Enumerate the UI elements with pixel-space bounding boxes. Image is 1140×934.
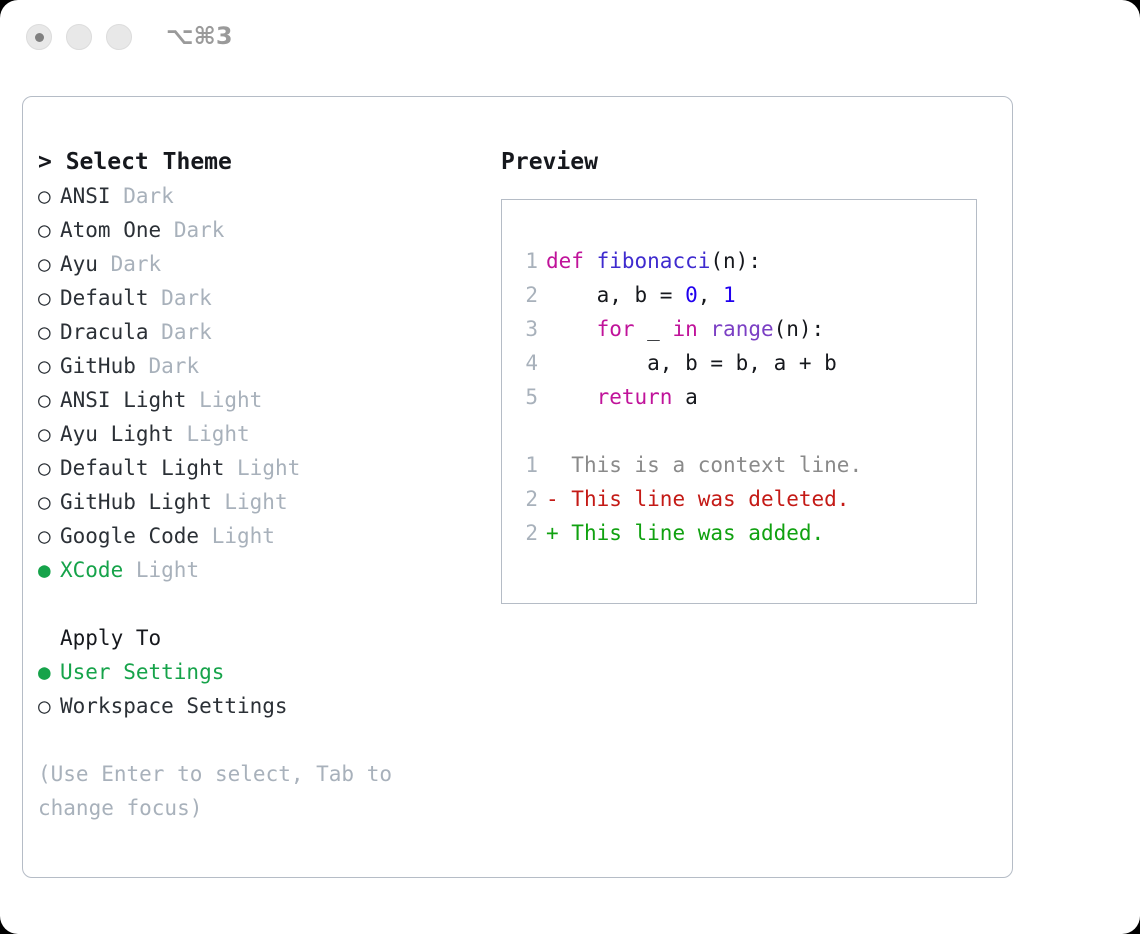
radio-unselected-icon: ○ (38, 383, 60, 417)
title-bar: ⌥⌘3 (0, 0, 1140, 78)
code-token: fibonacci (597, 249, 711, 273)
theme-option-google-code[interactable]: ○Google Code Light (38, 519, 488, 553)
code-token (546, 385, 597, 409)
theme-option-atom-one[interactable]: ○Atom One Dark (38, 213, 488, 247)
code-line-number: 3 (516, 312, 538, 346)
theme-option-spacer (111, 184, 124, 208)
theme-option-label: XCode (60, 558, 123, 582)
code-token: , (698, 283, 723, 307)
theme-option-default[interactable]: ○Default Dark (38, 281, 488, 315)
theme-variant-tag: Dark (111, 252, 162, 276)
app-window: ⌥⌘3 > Select Theme ○ANSI Dark○Atom One D… (0, 0, 1140, 934)
radio-unselected-icon: ○ (38, 213, 60, 247)
code-token: _ (635, 317, 673, 341)
code-token: 1 (723, 283, 736, 307)
diff-sample: 1 This is a context line.2- This line wa… (516, 448, 976, 550)
diff-text: This is a context line. (571, 453, 862, 477)
code-line: 2 a, b = 0, 1 (516, 278, 976, 312)
code-line: 3 for _ in range(n): (516, 312, 976, 346)
code-token: return (597, 385, 673, 409)
preview-title: Preview (501, 145, 1001, 179)
theme-option-label: Ayu (60, 252, 98, 276)
theme-option-label: ANSI (60, 184, 111, 208)
diff-line-number: 2 (516, 516, 538, 550)
code-token: range (710, 317, 773, 341)
theme-option-label: Default Light (60, 456, 224, 480)
code-token: a (672, 385, 697, 409)
theme-option-default-light[interactable]: ○Default Light Light (38, 451, 488, 485)
window-dot-active-inner (35, 33, 44, 42)
theme-variant-tag: Dark (149, 354, 200, 378)
theme-option-ayu[interactable]: ○Ayu Dark (38, 247, 488, 281)
diff-line: 2+ This line was added. (516, 516, 976, 550)
code-token: in (672, 317, 697, 341)
theme-option-github[interactable]: ○GitHub Dark (38, 349, 488, 383)
theme-option-spacer (174, 422, 187, 446)
preview-column: Preview 1def fibonacci(n):2 a, b = 0, 13… (501, 145, 1001, 604)
theme-option-spacer (186, 388, 199, 412)
theme-variant-tag: Dark (161, 286, 212, 310)
code-line: 1def fibonacci(n): (516, 244, 976, 278)
radio-unselected-icon: ○ (38, 315, 60, 349)
theme-variant-tag: Light (212, 524, 275, 548)
theme-option-dracula[interactable]: ○Dracula Dark (38, 315, 488, 349)
apply-to-option-label: User Settings (60, 660, 224, 684)
code-line-number: 4 (516, 346, 538, 380)
theme-variant-tag: Dark (123, 184, 174, 208)
theme-variant-tag: Light (186, 422, 249, 446)
diff-line-number: 2 (516, 482, 538, 516)
diff-text: This line was added. (571, 521, 824, 545)
theme-list: ○ANSI Dark○Atom One Dark○Ayu Dark○Defaul… (38, 179, 488, 587)
radio-unselected-icon: ○ (38, 519, 60, 553)
diff-line-number: 1 (516, 448, 538, 482)
keyboard-shortcut-label: ⌥⌘3 (166, 22, 233, 50)
radio-unselected-icon: ○ (38, 485, 60, 519)
main-panel: > Select Theme ○ANSI Dark○Atom One Dark○… (22, 96, 1013, 878)
radio-unselected-icon: ○ (38, 281, 60, 315)
theme-option-label: GitHub Light (60, 490, 212, 514)
diff-line: 2- This line was deleted. (516, 482, 976, 516)
theme-option-label: Ayu Light (60, 422, 174, 446)
apply-to-list: ●User Settings○Workspace Settings (38, 655, 488, 723)
radio-unselected-icon: ○ (38, 417, 60, 451)
theme-option-label: Dracula (60, 320, 149, 344)
code-token (584, 249, 597, 273)
diff-marker: + (546, 521, 571, 545)
window-dot-3[interactable] (106, 24, 132, 50)
code-token: a, b = (546, 283, 685, 307)
theme-picker-column: > Select Theme ○ANSI Dark○Atom One Dark○… (38, 145, 488, 825)
theme-option-label: ANSI Light (60, 388, 186, 412)
theme-option-ansi-light[interactable]: ○ANSI Light Light (38, 383, 488, 417)
theme-option-spacer (149, 320, 162, 344)
code-token: def (546, 249, 584, 273)
preview-box: 1def fibonacci(n):2 a, b = 0, 13 for _ i… (501, 199, 977, 604)
hint-spacer (38, 723, 488, 757)
radio-unselected-icon: ○ (38, 689, 60, 723)
code-line-number: 2 (516, 278, 538, 312)
diff-marker: - (546, 487, 571, 511)
code-line: 4 a, b = b, a + b (516, 346, 976, 380)
theme-option-ayu-light[interactable]: ○Ayu Light Light (38, 417, 488, 451)
section-spacer (38, 587, 488, 621)
theme-variant-tag: Light (224, 490, 287, 514)
theme-option-label: Google Code (60, 524, 199, 548)
code-token (698, 317, 711, 341)
radio-unselected-icon: ○ (38, 247, 60, 281)
diff-text: This line was deleted. (571, 487, 849, 511)
code-token (546, 317, 597, 341)
apply-to-option-label: Workspace Settings (60, 694, 288, 718)
theme-option-spacer (123, 558, 136, 582)
theme-option-spacer (224, 456, 237, 480)
code-token: for (597, 317, 635, 341)
keyboard-hint: (Use Enter to select, Tab to change focu… (38, 757, 448, 825)
theme-option-spacer (98, 252, 111, 276)
code-line-number: 1 (516, 244, 538, 278)
theme-option-spacer (136, 354, 149, 378)
radio-unselected-icon: ○ (38, 349, 60, 383)
diff-marker (546, 453, 571, 477)
theme-option-xcode[interactable]: ●XCode Light (38, 553, 488, 587)
theme-option-spacer (212, 490, 225, 514)
theme-variant-tag: Dark (161, 320, 212, 344)
code-diff-gap (516, 414, 976, 448)
radio-selected-icon: ● (38, 553, 60, 587)
theme-option-label: Atom One (60, 218, 161, 242)
select-theme-heading: > Select Theme (38, 145, 488, 179)
theme-option-github-light[interactable]: ○GitHub Light Light (38, 485, 488, 519)
radio-unselected-icon: ○ (38, 179, 60, 213)
theme-variant-tag: Light (237, 456, 300, 480)
theme-option-label: GitHub (60, 354, 136, 378)
code-sample: 1def fibonacci(n):2 a, b = 0, 13 for _ i… (516, 244, 976, 414)
apply-to-option-user-settings[interactable]: ●User Settings (38, 655, 488, 689)
window-controls (26, 24, 132, 50)
theme-option-ansi[interactable]: ○ANSI Dark (38, 179, 488, 213)
code-token: (n): (774, 317, 825, 341)
code-line: 5 return a (516, 380, 976, 414)
theme-option-spacer (199, 524, 212, 548)
theme-option-spacer (149, 286, 162, 310)
apply-to-heading: Apply To (38, 621, 488, 655)
apply-to-option-workspace-settings[interactable]: ○Workspace Settings (38, 689, 488, 723)
code-token: 0 (685, 283, 698, 307)
theme-variant-tag: Light (199, 388, 262, 412)
theme-variant-tag: Dark (174, 218, 225, 242)
window-dot-2[interactable] (66, 24, 92, 50)
code-token: (n): (710, 249, 761, 273)
diff-line: 1 This is a context line. (516, 448, 976, 482)
code-line-number: 5 (516, 380, 538, 414)
radio-selected-icon: ● (38, 655, 60, 689)
theme-variant-tag: Light (136, 558, 199, 582)
code-token: a, b = b, a + b (546, 351, 837, 375)
theme-option-label: Default (60, 286, 149, 310)
window-dot-active[interactable] (26, 24, 52, 50)
theme-option-spacer (161, 218, 174, 242)
radio-unselected-icon: ○ (38, 451, 60, 485)
